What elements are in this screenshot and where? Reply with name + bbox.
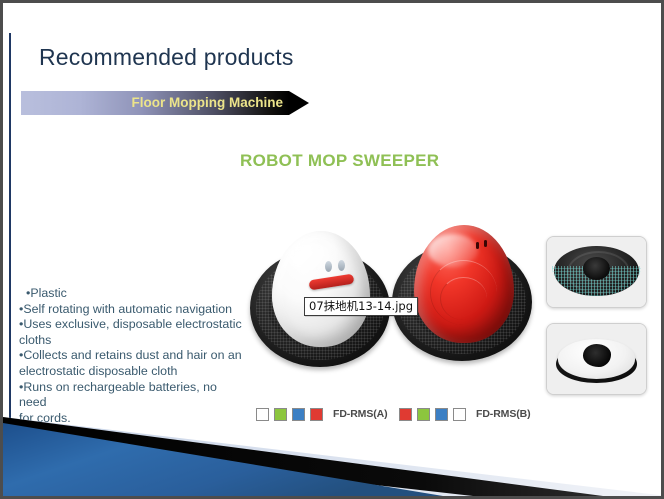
vent-icon: [476, 242, 479, 249]
list-item: •Self rotating with automatic navigation: [19, 302, 247, 318]
list-item: cloths: [19, 333, 247, 349]
section-banner: Floor Mopping Machine: [21, 91, 309, 115]
body-seam: [440, 277, 487, 320]
mop-body-white: [272, 231, 370, 347]
vent-icon: [484, 240, 487, 247]
thumbnail-mop-underside-white-cloth[interactable]: [546, 323, 647, 395]
thumbnail-mop-underside-mesh-pad[interactable]: [546, 236, 647, 308]
list-item: •Uses exclusive, disposable electrostati…: [19, 317, 247, 333]
page-title: Recommended products: [39, 44, 294, 71]
sensor-right-icon: [338, 260, 345, 271]
decoration-svg: [3, 401, 664, 496]
sensor-left-icon: [325, 261, 332, 272]
mop-body-red: [414, 225, 514, 343]
banner-arrowhead-icon: [289, 91, 309, 115]
list-item: •Collects and retains dust and hair on a…: [19, 348, 247, 364]
list-item: •Plastic: [19, 286, 247, 302]
thumbnail-hub: [583, 344, 612, 367]
bottom-diagonal-decoration: [3, 401, 664, 496]
slide-canvas: Recommended products Floor Mopping Machi…: [0, 0, 664, 499]
left-vertical-rule: [9, 33, 11, 433]
image-filename-tooltip: 07抹地机13-14.jpg: [304, 297, 418, 316]
list-item: electrostatic disposable cloth: [19, 364, 247, 380]
red-accent-stripe: [309, 274, 355, 291]
product-name: ROBOT MOP SWEEPER: [240, 151, 439, 171]
banner-label: Floor Mopping Machine: [21, 91, 289, 115]
